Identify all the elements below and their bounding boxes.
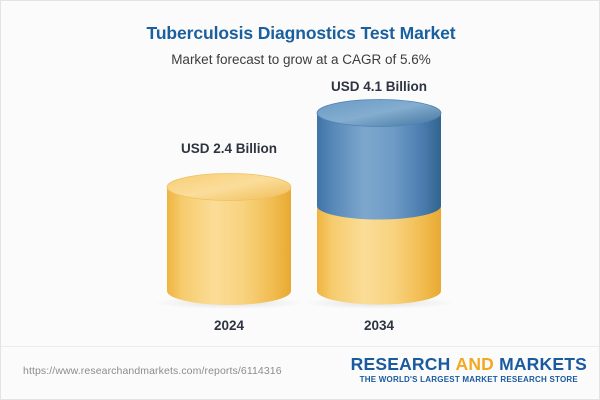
bar-category-label-2034: 2034 bbox=[364, 318, 394, 333]
chart-subtitle: Market forecast to grow at a CAGR of 5.6… bbox=[1, 52, 600, 67]
logo-tagline: THE WORLD'S LARGEST MARKET RESEARCH STOR… bbox=[351, 375, 587, 384]
bar-group-2024: USD 2.4 Billion bbox=[166, 167, 292, 305]
report-url-link[interactable]: https://www.researchandmarkets.com/repor… bbox=[23, 365, 282, 377]
bar-value-label-2024: USD 2.4 Billion bbox=[181, 141, 277, 156]
logo-word-research: RESEARCH bbox=[351, 354, 451, 374]
market-chart-card: Tuberculosis Diagnostics Test Market Mar… bbox=[0, 0, 600, 400]
bar-group-2034: USD 4.1 Billion bbox=[316, 105, 442, 305]
research-and-markets-logo[interactable]: RESEARCH AND MARKETS THE WORLD'S LARGEST… bbox=[351, 355, 587, 384]
cylinder-bar-2034 bbox=[316, 99, 442, 305]
footer: https://www.researchandmarkets.com/repor… bbox=[1, 346, 600, 399]
bar-category-label-2024: 2024 bbox=[214, 318, 244, 333]
page-title: Tuberculosis Diagnostics Test Market bbox=[1, 23, 600, 44]
chart-plot-area: USD 2.4 Billion bbox=[1, 79, 600, 339]
logo-word-markets: MARKETS bbox=[499, 354, 587, 374]
logo-word-and: AND bbox=[455, 354, 494, 374]
bar-value-label-2034: USD 4.1 Billion bbox=[331, 79, 427, 94]
cylinder-bar-2024 bbox=[166, 173, 292, 305]
logo-wordmark: RESEARCH AND MARKETS bbox=[351, 355, 587, 373]
